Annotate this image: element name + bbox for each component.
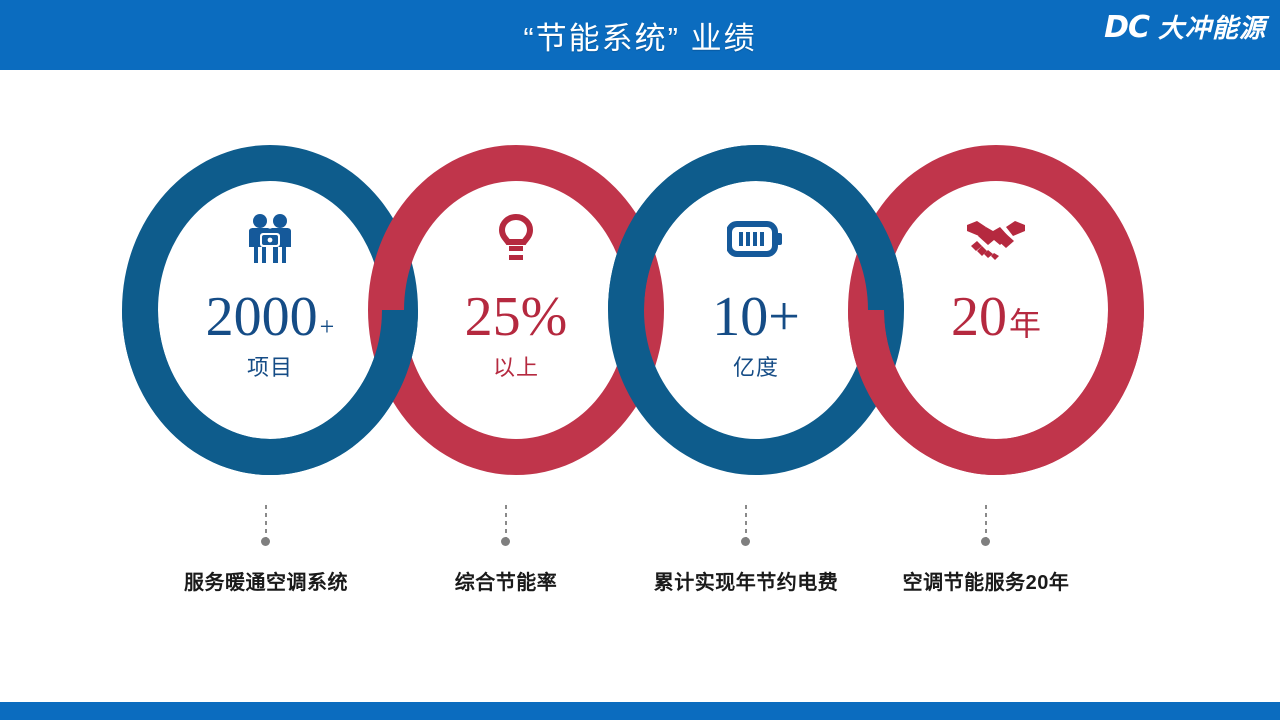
connector-line-3 [745, 505, 747, 541]
connector-dot-1 [261, 537, 270, 546]
ring-chain [0, 145, 1280, 495]
connector-line-4 [985, 505, 987, 541]
footer-bar [0, 702, 1280, 720]
ring-4-base [848, 145, 1144, 475]
connector-dot-3 [741, 537, 750, 546]
connector-line-1 [265, 505, 267, 541]
connector-dot-2 [501, 537, 510, 546]
caption-4: 空调节能服务20年 [836, 566, 1136, 595]
connector-line-2 [505, 505, 507, 541]
connector-dot-4 [981, 537, 990, 546]
stats-stage: 2000+ 项目 25% 以上 [0, 0, 1280, 720]
